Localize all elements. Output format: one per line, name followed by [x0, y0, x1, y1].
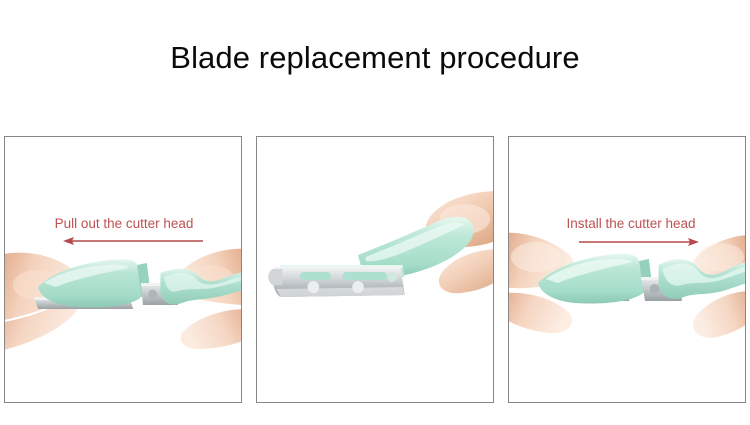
photo-pull-out	[5, 137, 241, 402]
caption-install: Install the cutter head	[513, 216, 746, 231]
photo-blade-detail	[257, 137, 493, 402]
arrow-right-icon	[579, 236, 699, 248]
panel-install: Install the cutter head	[508, 136, 746, 403]
photo-install	[509, 137, 745, 402]
caption-pull-out: Pull out the cutter head	[6, 216, 242, 231]
page-title: Blade replacement procedure	[0, 38, 750, 78]
panel-blade-detail	[256, 136, 494, 403]
panel-strip: Pull out the cutter head	[4, 136, 746, 403]
arrow-left-icon	[63, 235, 203, 247]
panel-pull-out: Pull out the cutter head	[4, 136, 242, 403]
steel-blade	[268, 267, 404, 297]
